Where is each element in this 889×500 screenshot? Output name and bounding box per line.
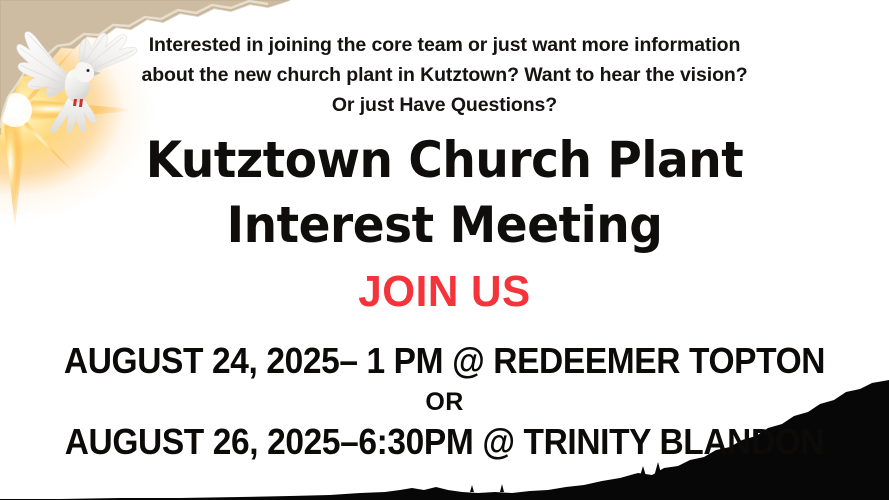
event-or-divider: OR xyxy=(0,390,889,415)
event-details-line-2: AUGUST 26, 2025–6:30PM @ TRINITY BLANDON xyxy=(31,424,858,460)
page-title-line-1: Kutztown Church Plant xyxy=(27,135,863,185)
intro-line-3: Or just Have Questions? xyxy=(0,90,889,120)
intro-line-2: about the new church plant in Kutztown? … xyxy=(0,60,889,90)
join-us-callout: JOIN US xyxy=(18,270,871,314)
intro-line-1: Interested in joining the core team or j… xyxy=(0,30,889,60)
poster-canvas: Interested in joining the core team or j… xyxy=(0,0,889,500)
intro-paragraph: Interested in joining the core team or j… xyxy=(0,30,889,121)
event-details-line-1: AUGUST 24, 2025– 1 PM @ REDEEMER TOPTON xyxy=(31,343,858,379)
page-title-line-2: Interest Meeting xyxy=(27,200,863,250)
